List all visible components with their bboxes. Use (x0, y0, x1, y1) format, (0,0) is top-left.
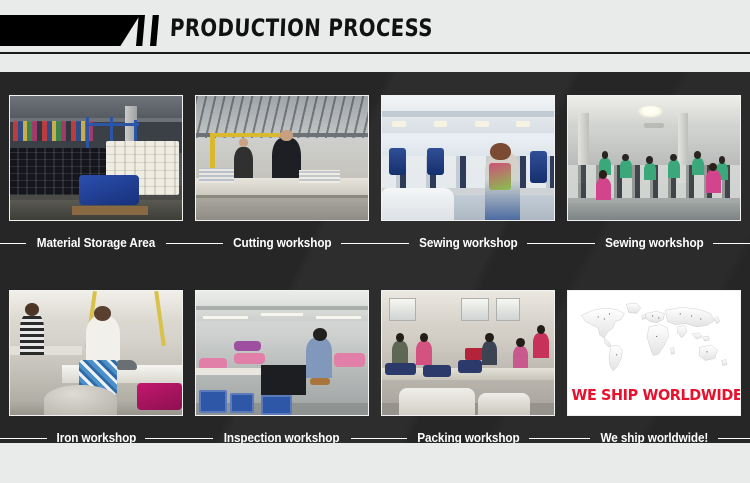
caption-label: Packing workshop (417, 431, 519, 443)
gallery-item-material-storage-area[interactable]: Material Storage Area (9, 95, 183, 268)
gallery-item-inspection-workshop[interactable]: Inspection workshop (195, 290, 369, 443)
caption-rule-left (372, 243, 409, 244)
slash-icon (136, 15, 145, 46)
photo-art-cutting (196, 96, 368, 220)
photo-cutting-workshop[interactable] (195, 95, 369, 221)
photo-sewing-workshop-2[interactable] (567, 95, 741, 221)
banner-block (0, 15, 140, 46)
caption-rule-left (186, 243, 223, 244)
caption-label: We ship worldwide! (600, 431, 708, 443)
gallery-item-cutting-workshop[interactable]: Cutting workshop (195, 95, 369, 268)
world-map-icon (575, 298, 733, 375)
caption-label: Iron workshop (56, 431, 136, 443)
caption-rule-left (186, 438, 213, 439)
gallery-panel: Material Storage Area (0, 72, 750, 443)
photo-art-sewing-bright (382, 96, 554, 220)
photo-material-storage-area[interactable] (9, 95, 183, 221)
photo-art-packing (382, 291, 554, 415)
caption-we-ship-worldwide: We ship worldwide! (558, 428, 750, 443)
photo-art-inspection (196, 291, 368, 415)
world-map-overlay-text: WE SHIP WORLDWIDE! (571, 386, 736, 404)
photo-art-world-map: WE SHIP WORLDWIDE! (568, 291, 740, 415)
caption-sewing-workshop-1: Sewing workshop (372, 233, 564, 253)
photo-iron-workshop[interactable] (9, 290, 183, 416)
gallery-row: Iron workshop (0, 290, 750, 443)
caption-label: Cutting workshop (233, 236, 331, 250)
gallery-item-sewing-workshop-1[interactable]: Sewing workshop (381, 95, 555, 268)
caption-rule-left (558, 243, 595, 244)
caption-label: Sewing workshop (605, 236, 703, 250)
caption-inspection-workshop: Inspection workshop (186, 428, 378, 443)
header-divider (0, 52, 750, 54)
photo-we-ship-worldwide[interactable]: WE SHIP WORLDWIDE! (567, 290, 741, 416)
page-footer-space (0, 443, 750, 483)
gallery-item-sewing-workshop-2[interactable]: Sewing workshop (567, 95, 741, 268)
caption-rule-left (0, 438, 47, 439)
gallery-item-packing-workshop[interactable]: Packing workshop (381, 290, 555, 443)
caption-iron-workshop: Iron workshop (0, 428, 192, 443)
gallery-grid: Material Storage Area (0, 95, 750, 443)
caption-cutting-workshop: Cutting workshop (186, 233, 378, 253)
slash-icon (150, 15, 159, 46)
gallery-row: Material Storage Area (0, 95, 750, 268)
photo-art-sewing-green (568, 96, 740, 220)
page-header: PRODUCTION PROCESS (0, 0, 750, 72)
caption-rule-right (713, 243, 750, 244)
caption-packing-workshop: Packing workshop (372, 428, 564, 443)
caption-label: Sewing workshop (419, 236, 517, 250)
gallery-item-iron-workshop[interactable]: Iron workshop (9, 290, 183, 443)
page-title: PRODUCTION PROCESS (169, 13, 433, 43)
caption-material-storage-area: Material Storage Area (0, 233, 192, 253)
gallery-item-we-ship-worldwide[interactable]: WE SHIP WORLDWIDE! We ship worldwide! (567, 290, 741, 443)
caption-label: Inspection workshop (224, 431, 340, 443)
caption-label: Material Storage Area (37, 236, 155, 250)
photo-inspection-workshop[interactable] (195, 290, 369, 416)
caption-rule-right (718, 438, 750, 439)
photo-art-ironing (10, 291, 182, 415)
caption-sewing-workshop-2: Sewing workshop (558, 233, 750, 253)
photo-sewing-workshop-1[interactable] (381, 95, 555, 221)
photo-packing-workshop[interactable] (381, 290, 555, 416)
caption-rule-left (372, 438, 407, 439)
caption-rule-left (0, 243, 26, 244)
caption-rule-left (558, 438, 590, 439)
photo-art-storage (10, 96, 182, 220)
